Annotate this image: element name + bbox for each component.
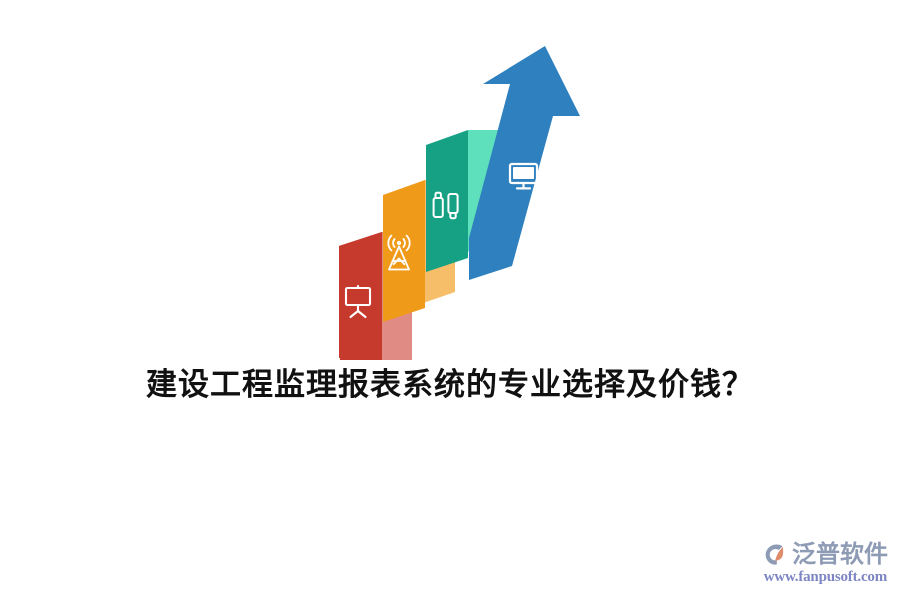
page-title: 建设工程监理报表系统的专业选择及价钱？: [0, 364, 900, 406]
rising-arrow-illustration: [320, 40, 610, 360]
segment-orange-face: [383, 180, 425, 322]
brand-watermark: 泛普软件 www.fanpusoft.com: [752, 540, 888, 586]
segment-green-face: [426, 130, 468, 272]
brand-name: 泛普软件: [792, 542, 888, 569]
brand-row: 泛普软件: [762, 540, 888, 570]
page-root: 建设工程监理报表系统的专业选择及价钱？ 泛普软件 www.fanpusoft.c…: [0, 0, 900, 600]
brand-url: www.fanpusoft.com: [764, 569, 887, 586]
fanpu-logo-icon: [762, 542, 789, 569]
